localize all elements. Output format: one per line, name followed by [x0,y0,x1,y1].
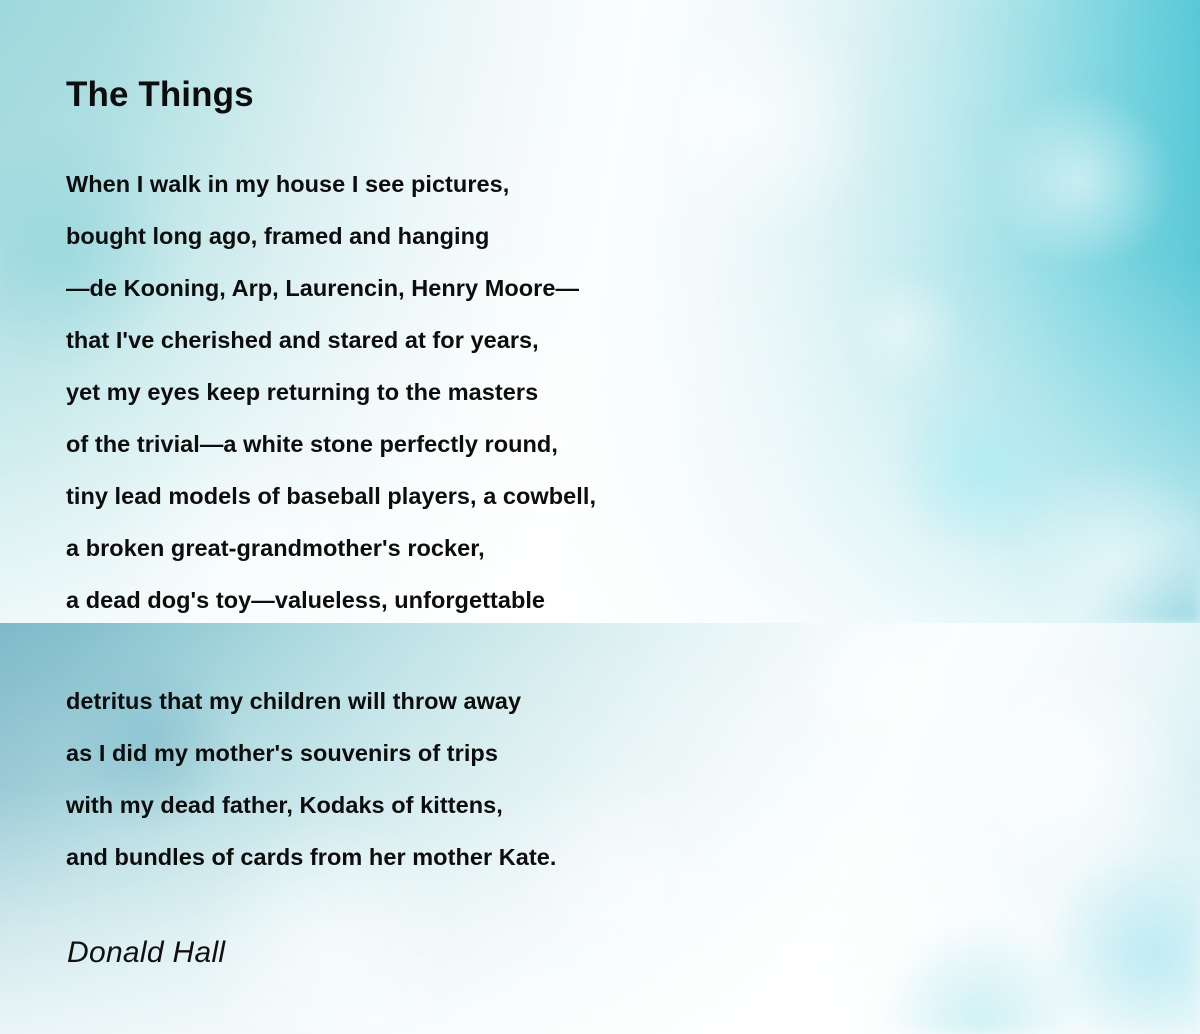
poem-line: as I did my mother's souvenirs of trips [66,727,1126,779]
poem-author: Donald Hall [67,936,225,970]
poem-line: and bundles of cards from her mother Kat… [66,831,1126,883]
poem-content: The Things When I walk in my house I see… [0,0,1200,1034]
poem-page: The Things When I walk in my house I see… [0,0,1200,1034]
poem-line: that I've cherished and stared at for ye… [66,314,1126,366]
poem-line: tiny lead models of baseball players, a … [66,470,1126,522]
poem-line: yet my eyes keep returning to the master… [66,366,1126,418]
poem-line: of the trivial—a white stone perfectly r… [66,418,1126,470]
poem-line: a dead dog's toy—valueless, unforgettabl… [66,574,1126,626]
poem-stanza-1: When I walk in my house I see pictures, … [66,158,1126,626]
poem-stanza-2: detritus that my children will throw awa… [66,675,1126,883]
poem-title: The Things [66,75,254,115]
poem-line: with my dead father, Kodaks of kittens, [66,779,1126,831]
poem-line: —de Kooning, Arp, Laurencin, Henry Moore… [66,262,1126,314]
poem-line: detritus that my children will throw awa… [66,675,1126,727]
poem-line: bought long ago, framed and hanging [66,210,1126,262]
poem-line: When I walk in my house I see pictures, [66,158,1126,210]
poem-line: a broken great-grandmother's rocker, [66,522,1126,574]
